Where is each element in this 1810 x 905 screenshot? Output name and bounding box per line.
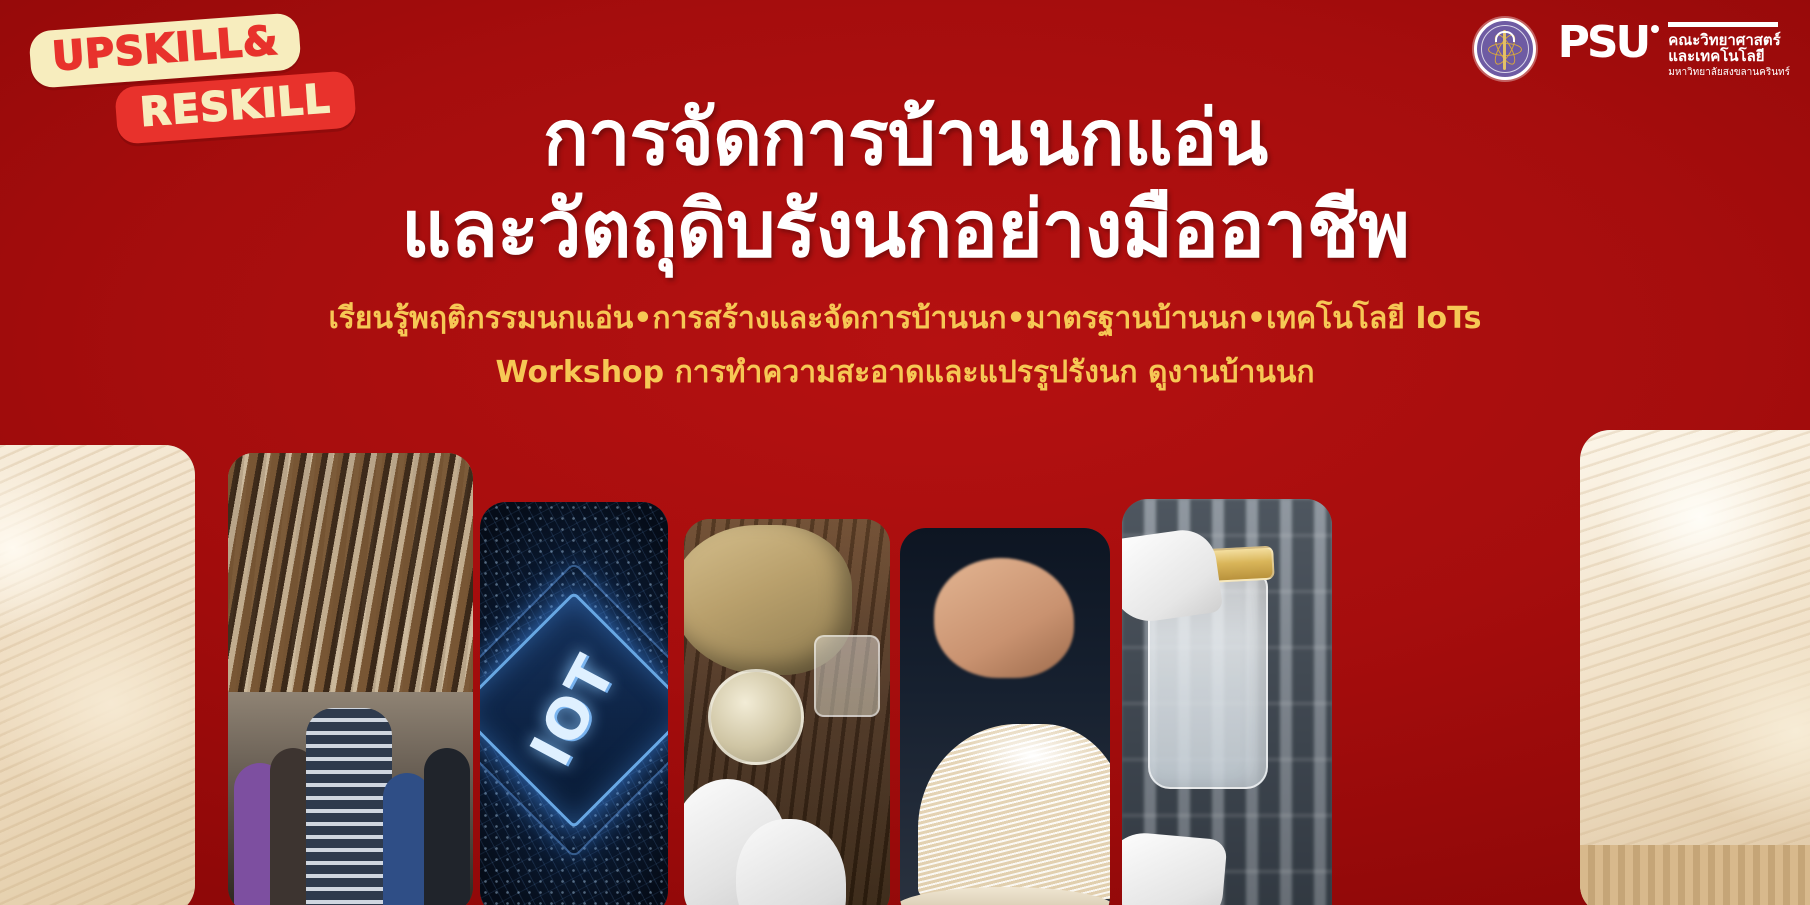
logo-group: PSU คณะวิทยาศาสตร์ และเทคโนโลยี มหาวิทยา… — [1474, 18, 1790, 80]
upskill-label: UPSKILL& — [51, 21, 280, 77]
wet-nest-strands — [918, 724, 1110, 899]
psu-faculty-logo: PSU คณะวิทยาศาสตร์ และเทคโนโลยี มหาวิทยา… — [1558, 19, 1790, 79]
visitor-figure — [306, 708, 392, 905]
reskill-badge: RESKILL — [114, 70, 356, 144]
psu-university-seal-icon — [1474, 18, 1536, 80]
photo-image — [1580, 430, 1810, 905]
title-line-2: และวัตถุดิบรังนกอย่างมืออาชีพ — [0, 184, 1810, 276]
photo-birdnest-closeup-left — [0, 445, 195, 905]
psu-wordmark: PSU — [1558, 21, 1660, 65]
visitor-figure — [424, 748, 470, 905]
wood-board — [1580, 845, 1810, 905]
photo-raw-nest-gloved-hands — [684, 519, 890, 905]
birdhouse-ceiling — [228, 453, 473, 692]
psu-divider-rule — [1668, 22, 1778, 27]
photo-image — [684, 519, 890, 905]
photo-image — [228, 453, 473, 905]
psu-dot-icon — [1651, 25, 1659, 33]
photo-image — [0, 445, 195, 905]
faculty-line-1: คณะวิทยาศาสตร์ — [1668, 32, 1790, 48]
subtitle-line-2: Workshop การทำความสะอาดและแปรรูปรังนก ดู… — [0, 350, 1810, 396]
university-name: มหาวิทยาลัยสงขลานครินทร์ — [1668, 66, 1790, 79]
photo-iot-chip: IOT — [480, 502, 668, 905]
photo-image — [900, 528, 1110, 905]
photo-image: IOT — [480, 502, 668, 905]
promo-banner: UPSKILL& RESKILL PSU คณะวิทยาศาสตร์ — [0, 0, 1810, 905]
photo-cleaning-wet-nest — [900, 528, 1110, 905]
photo-birdhouse-tour-group — [228, 453, 473, 905]
tissue-wrap — [1122, 830, 1228, 905]
hand — [934, 558, 1074, 678]
psu-wordmark-text: PSU — [1558, 17, 1649, 68]
photo-birdnest-closeup-right — [1580, 430, 1810, 905]
photo-strip: IOT — [0, 435, 1810, 905]
photo-image — [1122, 499, 1332, 905]
glass-jar — [814, 635, 880, 717]
upskill-reskill-badge: UPSKILL& RESKILL — [16, 14, 346, 154]
trident-prong — [1495, 31, 1515, 42]
photo-jar-product — [1122, 499, 1332, 905]
tissue-wrap — [1122, 526, 1223, 626]
faculty-line-2: และเทคโนโลยี — [1668, 48, 1790, 64]
glass-bowl — [708, 669, 804, 765]
psu-faculty-text: คณะวิทยาศาสตร์ และเทคโนโลยี มหาวิทยาลัยส… — [1668, 19, 1790, 79]
reskill-label: RESKILL — [139, 79, 332, 133]
subtitle-line-1: เรียนรู้พฤติกรรมนกแอ่น•การสร้างและจัดการ… — [0, 296, 1810, 342]
